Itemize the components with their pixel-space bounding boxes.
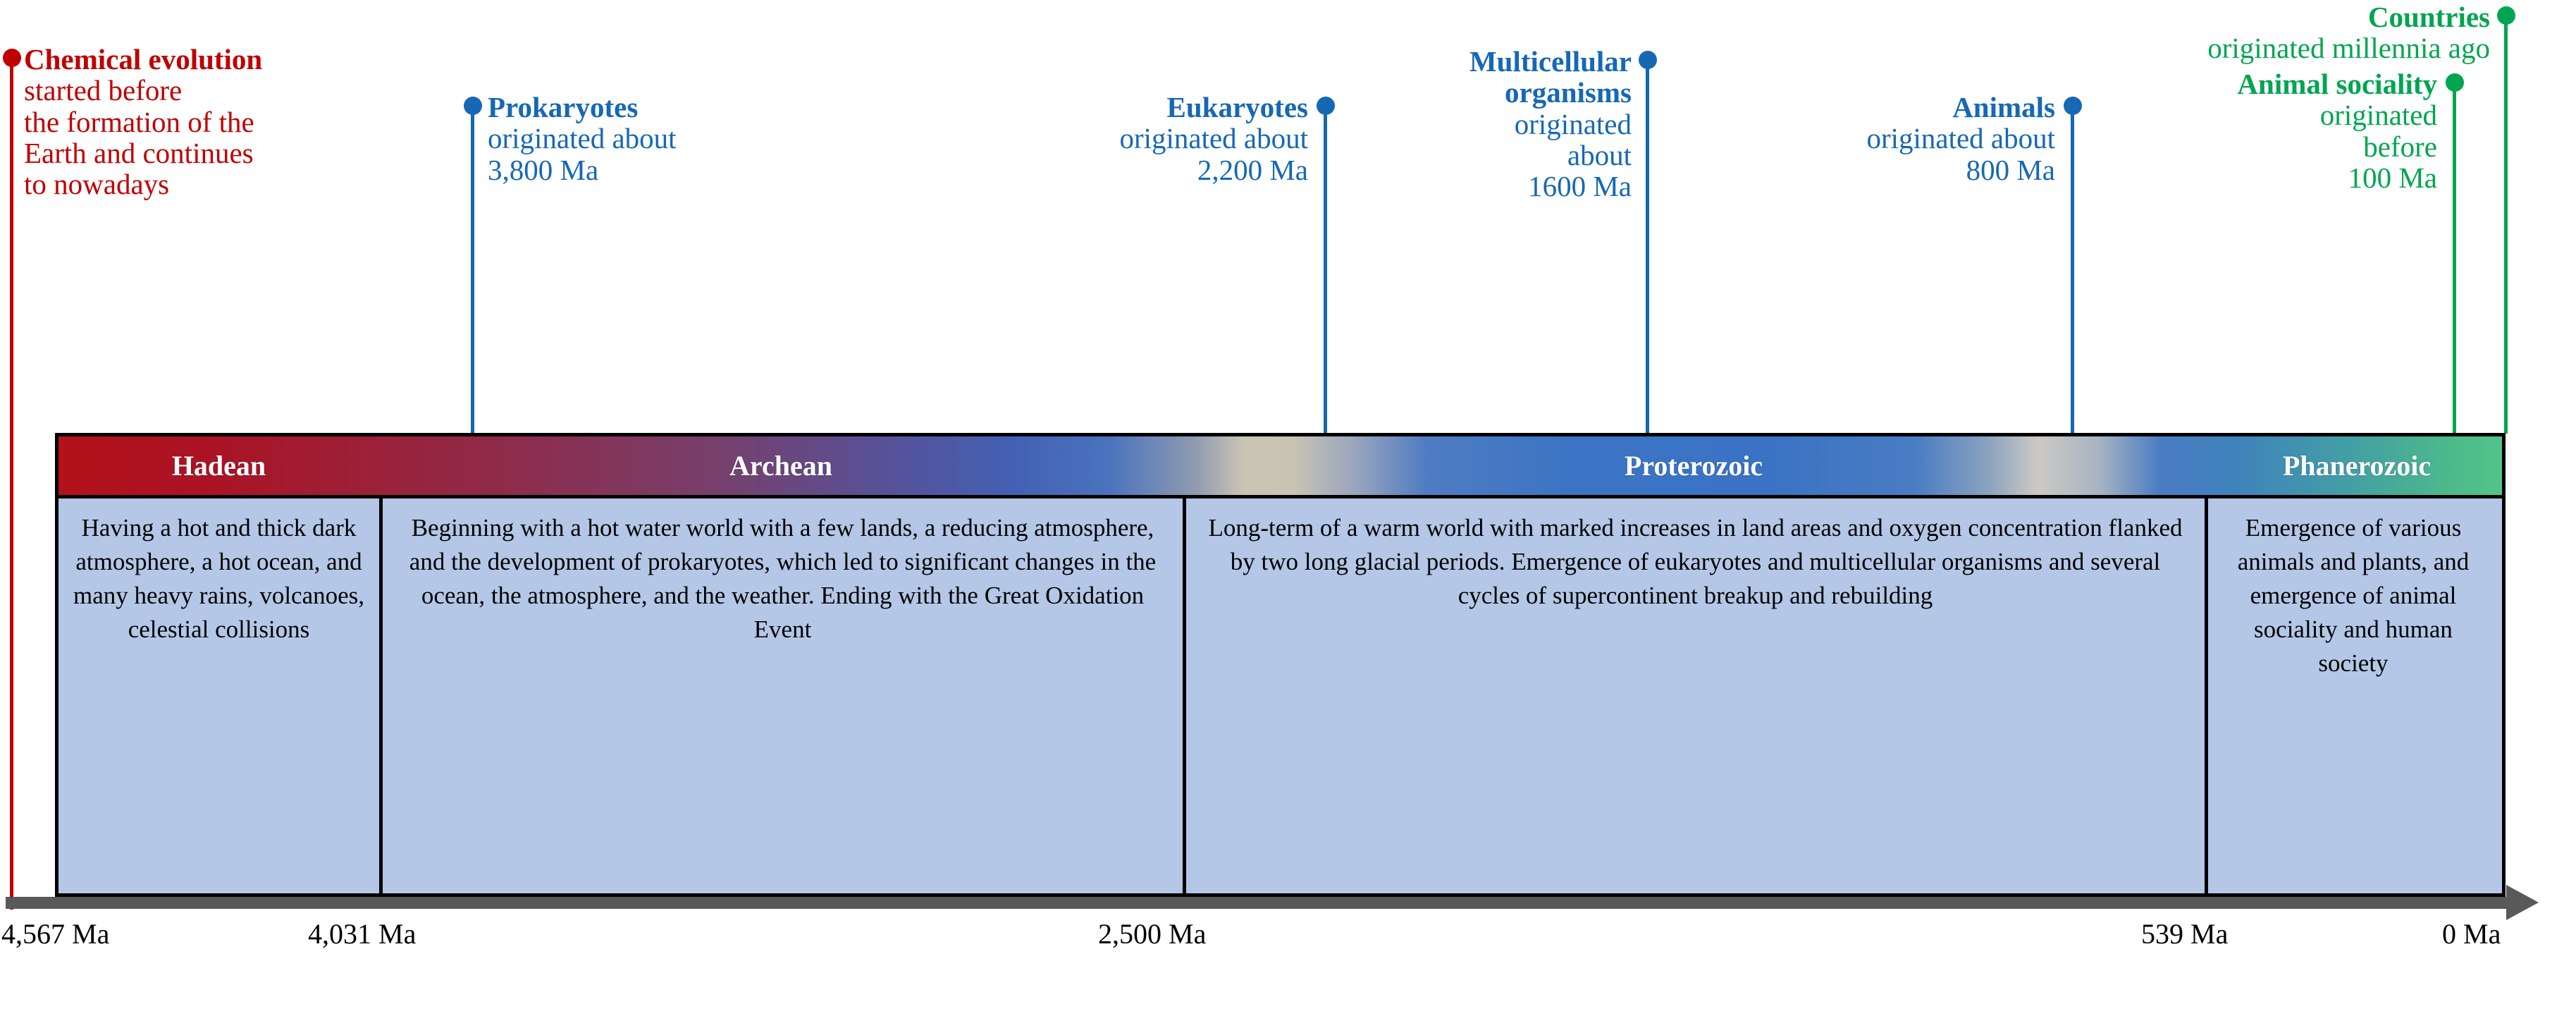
eon-label-archean: Archean (379, 436, 1183, 495)
leader-dot-prokaryotes (464, 97, 482, 115)
leader-dot-chemical-evolution (3, 49, 21, 67)
callout-line-3-multicellular-organisms: 1600 Ma (1311, 171, 1632, 202)
leader-prokaryotes (471, 106, 474, 434)
axis-tick-label-4567: 4,567 Ma (1, 917, 109, 950)
callout-line-2-multicellular-organisms: about (1311, 140, 1632, 171)
callout-line-1-eukaryotes: originated about (987, 123, 1308, 154)
leader-line-animal-sociality (2453, 82, 2456, 434)
callout-line-3-chemical-evolution: Earth and continues (24, 137, 262, 169)
callout-multicellular-organisms: Multicellular organisms originated about… (1311, 46, 1632, 202)
leader-dot-multicellular-organisms (1639, 51, 1657, 69)
callout-line-2-animal-sociality: before (2100, 131, 2437, 162)
leader-line-chemical-evolution (10, 58, 13, 910)
leader-dot-animal-sociality (2446, 73, 2464, 92)
callout-countries: Countries originated millennia ago (2079, 1, 2490, 64)
callout-line-1-chemical-evolution: started before (24, 75, 262, 106)
leader-countries (2504, 16, 2508, 434)
callout-title-chemical-evolution: Chemical evolution (24, 44, 262, 75)
timeline-figure: Chemical evolution started before the fo… (0, 0, 2576, 1016)
time-axis-bar (6, 897, 2515, 909)
axis-tick-label-539: 539 Ma (2141, 917, 2228, 950)
time-axis-arrow-icon (2506, 885, 2539, 920)
callout-line-1-multicellular-organisms: originated (1311, 109, 1632, 140)
callout-animals: Animals originated about 800 Ma (1734, 92, 2055, 185)
leader-line-prokaryotes (471, 106, 474, 434)
leader-animals (2071, 106, 2074, 434)
leader-dot-animals (2064, 97, 2082, 115)
callout-title-line-2-multicellular-organisms: organisms (1311, 77, 1632, 108)
callout-animal-sociality: Animal sociality originated before 100 M… (2100, 68, 2437, 193)
callout-line-1-animals: originated about (1734, 123, 2055, 154)
eon-description-proterozoic: Long-term of a warm world with marked in… (1183, 498, 2205, 893)
eon-band: Hadean Archean Proterozoic Phanerozoic (55, 433, 2506, 498)
leader-line-animals (2071, 106, 2074, 434)
leader-line-multicellular-organisms (1646, 60, 1649, 434)
leader-multicellular-organisms (1646, 60, 1649, 434)
callout-title-animals: Animals (1734, 92, 2055, 123)
callout-line-1-prokaryotes: originated about (488, 123, 677, 154)
axis-tick-label-4031: 4,031 Ma (308, 917, 416, 950)
eon-label-proterozoic: Proterozoic (1183, 436, 2205, 495)
callout-line-2-eukaryotes: 2,200 Ma (987, 154, 1308, 185)
callout-title-prokaryotes: Prokaryotes (488, 92, 677, 123)
eon-description-archean: Beginning with a hot water world with a … (379, 498, 1183, 893)
leader-chemical-evolution (10, 58, 13, 910)
callout-title-line-1-multicellular-organisms: Multicellular (1311, 46, 1632, 77)
callout-line-1-countries: originated millennia ago (2079, 32, 2490, 63)
callout-line-3-animal-sociality: 100 Ma (2100, 162, 2437, 193)
eon-label-phanerozoic: Phanerozoic (2205, 436, 2509, 495)
callout-line-1-animal-sociality: originated (2100, 99, 2437, 130)
callout-eukaryotes: Eukaryotes originated about 2,200 Ma (987, 92, 1308, 185)
callout-title-countries: Countries (2079, 1, 2490, 32)
leader-animal-sociality (2453, 82, 2456, 434)
callout-line-4-chemical-evolution: to nowadays (24, 169, 262, 200)
callout-line-2-animals: 800 Ma (1734, 154, 2055, 185)
leader-line-countries (2504, 16, 2508, 434)
callout-title-animal-sociality: Animal sociality (2100, 68, 2437, 99)
callout-line-2-prokaryotes: 3,800 Ma (488, 154, 677, 185)
eon-description-hadean: Having a hot and thick dark atmosphere, … (58, 498, 379, 893)
callout-title-eukaryotes: Eukaryotes (987, 92, 1308, 123)
callout-chemical-evolution: Chemical evolution started before the fo… (24, 44, 262, 200)
leader-dot-countries (2497, 6, 2515, 25)
eon-description-phanerozoic: Emergence of various animals and plants,… (2205, 498, 2498, 893)
eon-label-hadean: Hadean (58, 436, 379, 495)
eon-description-row: Having a hot and thick dark atmosphere, … (55, 498, 2506, 897)
axis-tick-label-0: 0 Ma (2442, 917, 2501, 950)
callout-line-2-chemical-evolution: the formation of the (24, 106, 262, 137)
axis-tick-label-2500: 2,500 Ma (1098, 917, 1206, 950)
callout-prokaryotes: Prokaryotes originated about 3,800 Ma (488, 92, 677, 185)
